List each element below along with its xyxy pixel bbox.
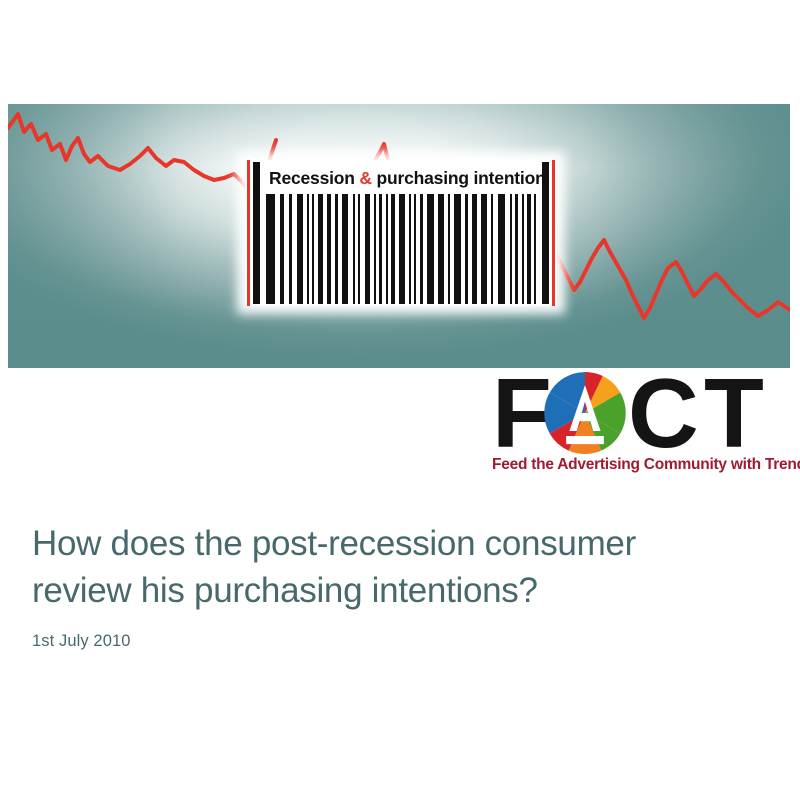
barcode-bar xyxy=(297,194,303,304)
barcode-bar xyxy=(280,194,284,304)
barcode-bar xyxy=(379,194,382,304)
barcode-bar xyxy=(438,194,444,304)
barcode-title-prefix: Recession xyxy=(269,168,359,188)
barcode-bar xyxy=(454,194,461,304)
barcode-bar xyxy=(386,194,388,304)
barcode-bar xyxy=(534,194,536,304)
barcode-bar xyxy=(266,194,275,304)
barcode-bar xyxy=(409,194,411,304)
barcode-bar xyxy=(307,194,309,304)
logo-letter-f: F xyxy=(492,370,549,456)
barcode-bar xyxy=(414,194,416,304)
barcode-guard-bar-left xyxy=(253,162,260,304)
barcode-bar xyxy=(498,194,505,304)
barcode-bar xyxy=(365,194,370,304)
fact-logo-tagline: Feed the Advertising Community with Tren… xyxy=(492,456,792,474)
logo-letter-c: C xyxy=(628,370,696,456)
barcode-bar xyxy=(318,194,323,304)
logo-letter-a-colorwheel-icon xyxy=(544,372,626,454)
barcode-bar xyxy=(527,194,531,304)
page-title-line-2: review his purchasing intentions? xyxy=(32,567,762,614)
barcode-bar xyxy=(374,194,376,304)
barcode-bar xyxy=(399,194,405,304)
barcode-bar xyxy=(342,194,348,304)
barcode-right-red-edge xyxy=(552,160,555,306)
barcode-bar xyxy=(522,194,524,304)
barcode-title-ampersand: & xyxy=(359,168,371,188)
barcode-left-red-edge xyxy=(247,160,250,306)
presentation-date: 1st July 2010 xyxy=(32,632,762,651)
title-block: How does the post-recession consumerrevi… xyxy=(32,520,762,651)
barcode-bar xyxy=(481,194,487,304)
barcode-bar xyxy=(358,194,360,304)
barcode-title: Recession & purchasing intention xyxy=(269,165,537,191)
barcode-bar xyxy=(510,194,512,304)
barcode-bar xyxy=(353,194,355,304)
barcode-bar xyxy=(427,194,434,304)
recession-banner: Recession & purchasing intention xyxy=(8,104,790,368)
logo-letter-t: T xyxy=(704,370,761,456)
barcode-bar xyxy=(335,194,338,304)
barcode-strip xyxy=(266,194,538,304)
fact-logo: F C T Feed the Advertising xyxy=(490,368,792,480)
barcode-bar xyxy=(420,194,423,304)
barcode-bar xyxy=(289,194,292,304)
page-title: How does the post-recession consumerrevi… xyxy=(32,520,762,614)
barcode-bar xyxy=(391,194,395,304)
trend-line-left-segment xyxy=(8,114,276,208)
barcode-bar xyxy=(465,194,468,304)
fact-logo-letters: F C T xyxy=(490,368,792,454)
barcode-bar xyxy=(327,194,331,304)
barcode-graphic: Recession & purchasing intention xyxy=(245,160,557,306)
barcode-bar xyxy=(515,194,518,304)
page-title-line-1: How does the post-recession consumer xyxy=(32,524,636,563)
barcode-bar xyxy=(491,194,493,304)
barcode-title-suffix: purchasing intention xyxy=(372,168,546,188)
barcode-bar xyxy=(472,194,477,304)
barcode-bar xyxy=(312,194,314,304)
barcode-bar xyxy=(448,194,450,304)
